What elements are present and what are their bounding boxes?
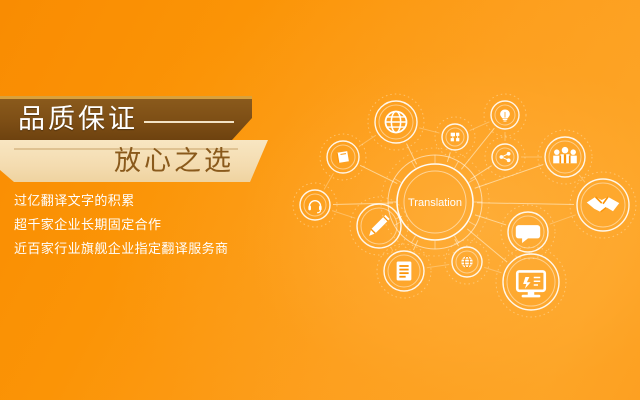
bulb-icon — [484, 94, 526, 136]
feature-bullet: 近百家行业旗舰企业指定翻译服务商 — [14, 238, 274, 262]
banner-top-ribbon: 品质保证 — [0, 96, 252, 140]
miniglobe-icon — [445, 240, 489, 284]
book-icon — [320, 134, 366, 180]
banner-bottom-ribbon: 放心之选 — [0, 140, 268, 182]
feature-bullet-list: 过亿翻译文字的积累超千家企业长期固定合作近百家行业旗舰企业指定翻译服务商 — [14, 190, 274, 262]
pencil-icon — [350, 197, 408, 255]
hub-label: Translation — [408, 197, 462, 209]
feature-bullet: 超千家企业长期固定合作 — [14, 214, 274, 238]
list-icon — [377, 244, 431, 298]
share-icon — [485, 137, 525, 177]
globe-icon — [368, 94, 424, 150]
banner-canvas: Translation 品质保证 放心之选 过亿翻译文字的积累超千家企业长期固定… — [0, 0, 640, 400]
banner-bottom-ribbon-text: 放心之选 — [114, 148, 234, 175]
people-icon — [538, 130, 592, 184]
monitor-icon — [496, 247, 566, 317]
sitemap-icon — [435, 117, 475, 157]
hub-node: Translation — [381, 148, 489, 256]
headset-icon — [293, 183, 337, 227]
network-nodes — [293, 94, 636, 317]
banner-top-rule — [144, 121, 234, 123]
handshake-icon — [570, 172, 636, 238]
quality-banner: 品质保证 放心之选 — [0, 96, 282, 182]
translation-network-graphic: Translation — [255, 60, 640, 350]
feature-bullet: 过亿翻译文字的积累 — [14, 190, 274, 214]
banner-top-ribbon-text: 品质保证 — [18, 106, 138, 133]
